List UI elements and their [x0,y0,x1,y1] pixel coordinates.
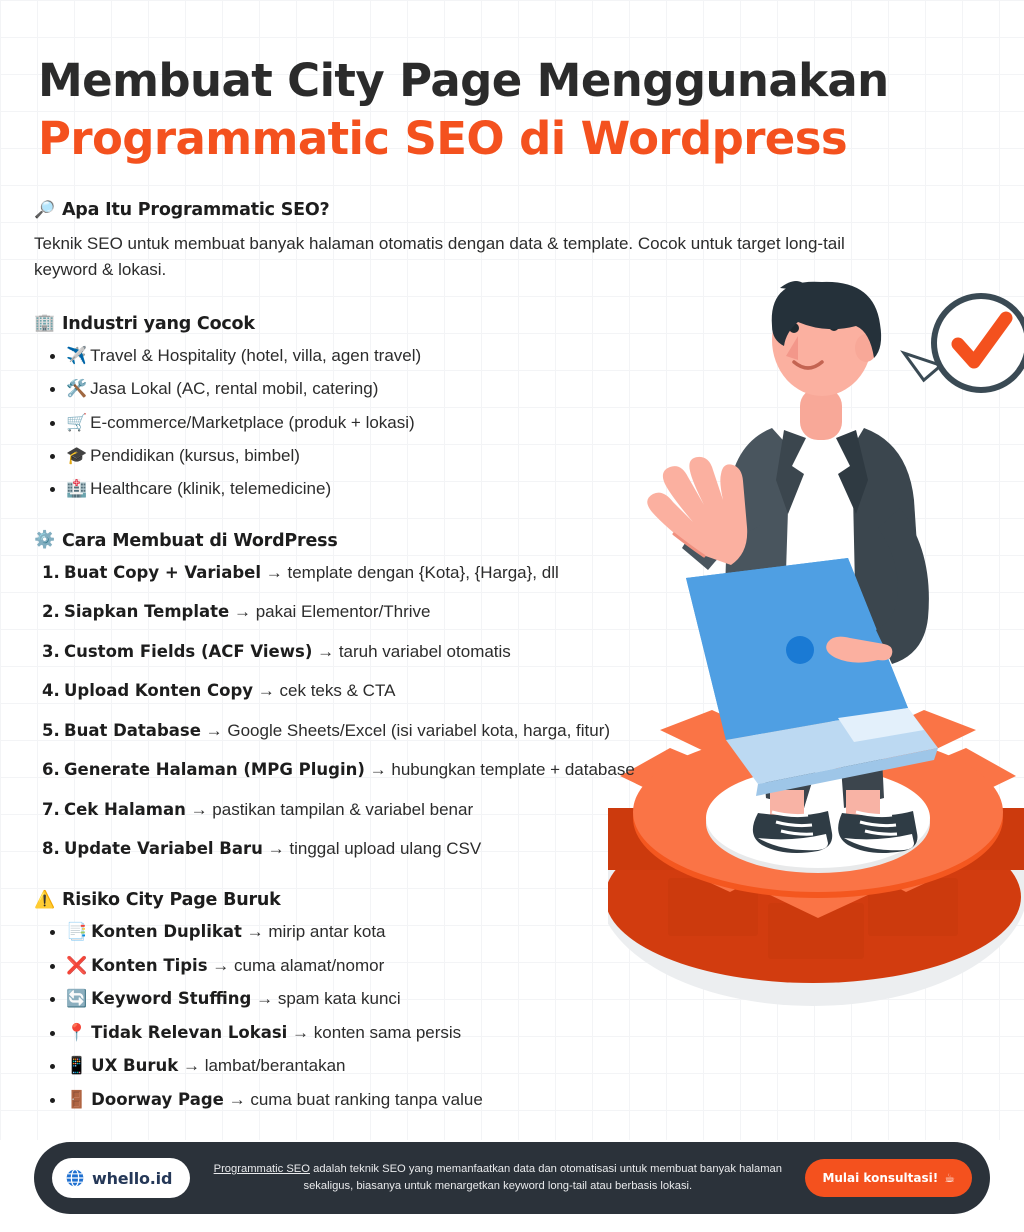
section-heading-industries-label: Industri yang Cocok [62,314,255,334]
section-heading-intro-label: Apa Itu Programmatic SEO? [62,200,330,220]
arrow-glyph: → [292,1023,309,1042]
arrow-glyph: → [370,760,387,779]
mobile-phone-icon: 📱 [66,1056,87,1075]
coffee-cup-icon: ☕ [944,1171,955,1185]
list-item: 🚪Doorway Page → cuma buat ranking tanpa … [34,1089,894,1111]
list-item: 🛠️Jasa Lokal (AC, rental mobil, catering… [34,378,894,400]
globe-icon [65,1168,85,1188]
title-line-2: Programmatic SEO di Wordpress [38,110,998,168]
airplane-icon: ✈️ [66,346,87,365]
risk-detail: cuma alamat/nomor [234,956,384,975]
arrow-glyph: → [229,1090,246,1109]
warning-triangle-icon: ⚠️ [34,892,55,909]
list-item-label: Healthcare (klinik, telemedicine) [90,479,331,498]
step-detail: pakai Elementor/Thrive [256,602,431,621]
list-item: Upload Konten Copy → cek teks & CTA [34,680,894,702]
risk-detail: spam kata kunci [278,989,401,1008]
infographic-page: Membuat City Page Menggunakan Programmat… [0,0,1024,1232]
section-heading-industries: 🏢 Industri yang Cocok [34,314,894,334]
risk-detail: lambat/berantakan [205,1056,346,1075]
arrow-glyph: → [266,563,283,582]
list-item: Siapkan Template → pakai Elementor/Thriv… [34,601,894,623]
arrow-glyph: → [234,602,251,621]
risk-title: Doorway Page [91,1090,224,1109]
start-consultation-button[interactable]: Mulai konsultasi! ☕ [805,1159,972,1197]
arrow-glyph: → [256,989,273,1008]
arrow-glyph: → [206,721,223,740]
list-item-label: Travel & Hospitality (hotel, villa, agen… [90,346,421,365]
risk-detail: mirip antar kota [268,922,385,941]
graduation-cap-icon: 🎓 [66,446,87,465]
list-item: Buat Copy + Variabel → template dengan {… [34,562,894,584]
list-item: 🏥Healthcare (klinik, telemedicine) [34,478,894,500]
copy-pages-icon: 📑 [66,922,87,941]
step-detail: pastikan tampilan & variabel benar [212,800,473,819]
arrow-glyph: → [317,642,334,661]
footer-bar: whello.id Programmatic SEO adalah teknik… [34,1142,990,1214]
step-title: Upload Konten Copy [64,681,253,700]
section-heading-howto: ⚙️ Cara Membuat di WordPress [34,531,894,551]
risk-title: UX Buruk [91,1056,178,1075]
list-item-label: Jasa Lokal (AC, rental mobil, catering) [90,379,378,398]
step-title: Buat Copy + Variabel [64,563,261,582]
list-item: Generate Halaman (MPG Plugin) → hubungka… [34,759,894,781]
content-column: 🔎 Apa Itu Programmatic SEO? Teknik SEO u… [34,200,894,1122]
section-heading-risks-label: Risiko City Page Buruk [62,890,281,910]
step-detail: taruh variabel otomatis [339,642,511,661]
list-item: Update Variabel Baru → tinggal upload ul… [34,838,894,860]
list-item: Buat Database → Google Sheets/Excel (isi… [34,720,894,742]
step-detail: hubungkan template + database [391,760,634,779]
step-detail: template dengan {Kota}, {Harga}, dll [287,563,558,582]
howto-steps-list: Buat Copy + Variabel → template dengan {… [34,562,894,861]
page-title: Membuat City Page Menggunakan Programmat… [38,52,998,167]
brand-logo[interactable]: whello.id [52,1158,190,1198]
office-building-icon: 🏢 [34,315,55,332]
orange-checkmark-in-speech-bubble [908,296,1024,390]
risk-detail: cuma buat ranking tanpa value [250,1090,483,1109]
step-detail: tinggal upload ulang CSV [289,839,481,858]
step-detail: cek teks & CTA [280,681,396,700]
map-pin-icon: 📍 [66,1023,87,1042]
step-title: Buat Database [64,721,201,740]
title-line-1: Membuat City Page Menggunakan [38,52,998,110]
section-heading-intro: 🔎 Apa Itu Programmatic SEO? [34,200,894,220]
risks-list: 📑Konten Duplikat → mirip antar kota ❌Kon… [34,921,894,1111]
list-item: ❌Konten Tipis → cuma alamat/nomor [34,955,894,977]
brand-logo-label: whello.id [92,1169,172,1188]
repeat-arrows-icon: 🔄 [66,989,87,1008]
risk-detail: konten sama persis [314,1023,461,1042]
list-item: Cek Halaman → pastikan tampilan & variab… [34,799,894,821]
arrow-glyph: → [258,681,275,700]
tools-icon: 🛠️ [66,379,87,398]
arrow-glyph: → [212,956,229,975]
arrow-glyph: → [247,922,264,941]
list-item-label: Pendidikan (kursus, bimbel) [90,446,300,465]
industries-list: ✈️Travel & Hospitality (hotel, villa, ag… [34,345,894,501]
list-item: 🎓Pendidikan (kursus, bimbel) [34,445,894,467]
risk-title: Tidak Relevan Lokasi [91,1023,287,1042]
risk-title: Keyword Stuffing [91,989,251,1008]
footer-description: Programmatic SEO adalah teknik SEO yang … [190,1161,805,1195]
arrow-glyph: → [183,1056,200,1075]
footer-description-rest: adalah teknik SEO yang memanfaatkan data… [303,1163,782,1192]
hospital-icon: 🏥 [66,479,87,498]
risk-title: Konten Duplikat [91,922,242,941]
gear-icon: ⚙️ [34,532,55,549]
step-title: Custom Fields (ACF Views) [64,642,312,661]
arrow-glyph: → [191,800,208,819]
section-heading-howto-label: Cara Membuat di WordPress [62,531,338,551]
list-item: 📑Konten Duplikat → mirip antar kota [34,921,894,943]
list-item: 📍Tidak Relevan Lokasi → konten sama pers… [34,1022,894,1044]
section-heading-risks: ⚠️ Risiko City Page Buruk [34,890,894,910]
door-icon: 🚪 [66,1090,87,1109]
intro-paragraph: Teknik SEO untuk membuat banyak halaman … [34,231,884,284]
step-title: Update Variabel Baru [64,839,263,858]
list-item: ✈️Travel & Hospitality (hotel, villa, ag… [34,345,894,367]
list-item-label: E-commerce/Marketplace (produk + lokasi) [90,413,415,432]
step-detail: Google Sheets/Excel (isi variabel kota, … [227,721,610,740]
step-title: Cek Halaman [64,800,186,819]
red-cross-icon: ❌ [66,956,87,975]
step-title: Generate Halaman (MPG Plugin) [64,760,365,779]
start-consultation-label: Mulai konsultasi! [822,1171,938,1185]
list-item: 🔄Keyword Stuffing → spam kata kunci [34,988,894,1010]
magnifying-glass-icon: 🔎 [34,202,55,219]
footer-description-link[interactable]: Programmatic SEO [214,1163,310,1175]
list-item: 📱UX Buruk → lambat/berantakan [34,1055,894,1077]
arrow-glyph: → [268,839,285,858]
step-title: Siapkan Template [64,602,229,621]
list-item: 🛒E-commerce/Marketplace (produk + lokasi… [34,412,894,434]
list-item: Custom Fields (ACF Views) → taruh variab… [34,641,894,663]
shopping-cart-icon: 🛒 [66,413,87,432]
risk-title: Konten Tipis [91,956,207,975]
